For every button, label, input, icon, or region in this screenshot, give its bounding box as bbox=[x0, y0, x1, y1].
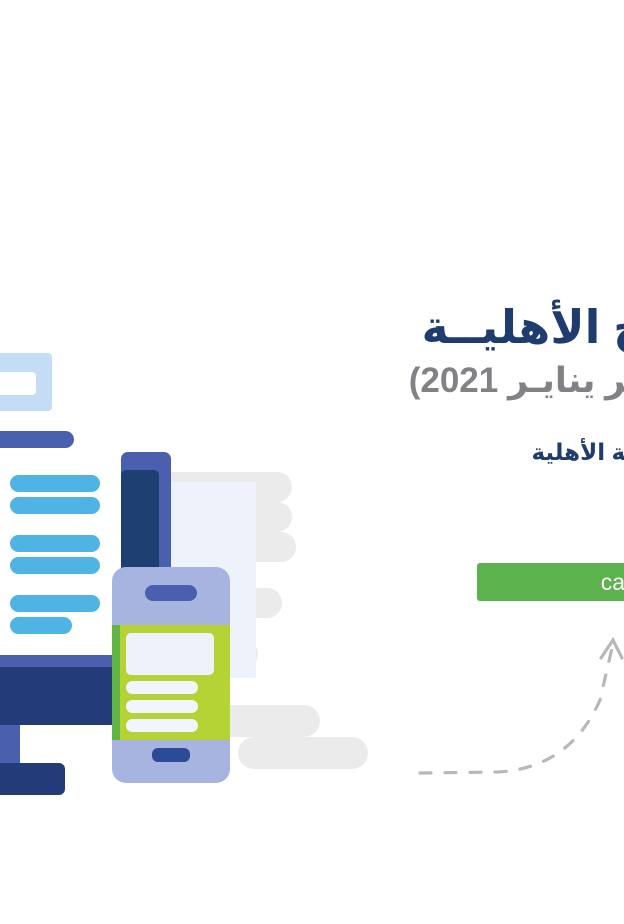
pale-panel bbox=[160, 482, 256, 678]
navy-tablet bbox=[121, 452, 171, 578]
phone-screen bbox=[126, 633, 214, 675]
document-sheet bbox=[0, 462, 112, 656]
website-url-label: ca.go bbox=[601, 569, 624, 596]
desk-base bbox=[0, 655, 112, 795]
dashed-arrow bbox=[420, 640, 622, 773]
poster-canvas: ـج الأهليــة ـهر ينايـر 2021) الة الأهلي… bbox=[0, 0, 624, 924]
page-subtitle: ـهر ينايـر 2021) bbox=[38, 354, 624, 402]
website-url-button[interactable]: ca.go bbox=[477, 563, 624, 601]
page-title: ـج الأهليــة bbox=[38, 300, 624, 354]
text-block: ـج الأهليــة ـهر ينايـر 2021) الة الأهلي… bbox=[0, 300, 624, 467]
phone-device bbox=[112, 567, 230, 783]
text-bars bbox=[10, 475, 100, 634]
background-gray-bars bbox=[150, 472, 368, 769]
page-tagline: الة الأهلية bbox=[18, 402, 624, 467]
